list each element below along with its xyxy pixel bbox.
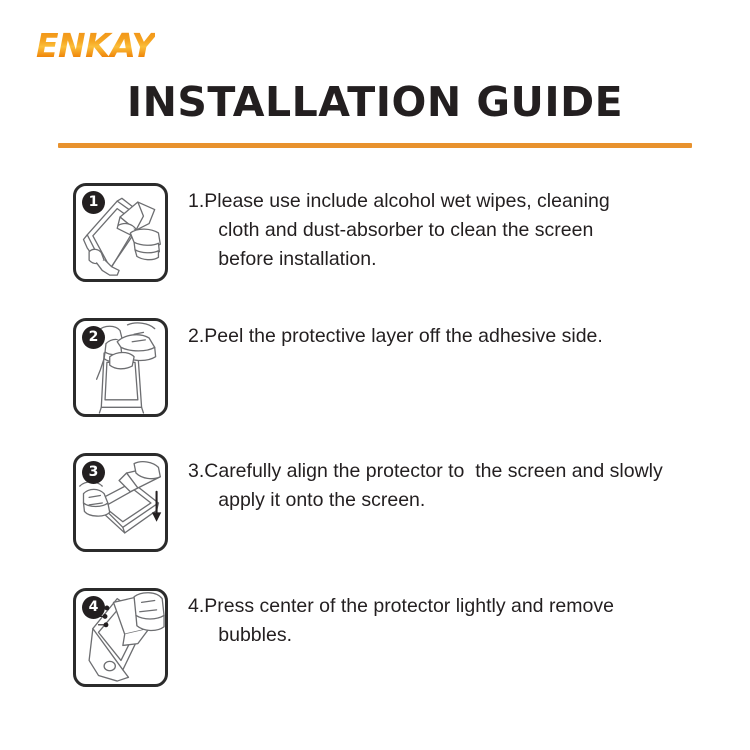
step-description: 2.Peel the protective layer off the adhe… xyxy=(188,322,712,351)
steps-list: 1 1.Please use include alcohol wet wipes… xyxy=(0,183,750,723)
brand-logo: ENKAY xyxy=(36,26,236,66)
title-divider xyxy=(58,143,692,148)
step-row: 4 4.Press center of the protector lightl… xyxy=(0,588,750,723)
step-number-badge: 2 xyxy=(82,326,105,349)
step-row: 1 1.Please use include alcohol wet wipes… xyxy=(0,183,750,318)
step-4-illustration: 4 xyxy=(73,588,168,687)
step-2-illustration: 2 xyxy=(73,318,168,417)
step-number-badge: 1 xyxy=(82,191,105,214)
step-number-badge: 4 xyxy=(82,596,105,619)
step-3-illustration: 3 xyxy=(73,453,168,552)
page-title: INSTALLATION GUIDE xyxy=(0,78,750,126)
step-description: 3.Carefully align the protector to the s… xyxy=(188,457,712,515)
brand-logo-text: ENKAY xyxy=(36,26,155,66)
step-description: 1.Please use include alcohol wet wipes, … xyxy=(188,187,712,274)
step-description: 4.Press center of the protector lightly … xyxy=(188,592,712,650)
step-row: 2 2.Peel the protective layer off the ad… xyxy=(0,318,750,453)
step-number-badge: 3 xyxy=(82,461,105,484)
step-1-illustration: 1 xyxy=(73,183,168,282)
step-row: 3 3.Carefully align the protector to the… xyxy=(0,453,750,588)
